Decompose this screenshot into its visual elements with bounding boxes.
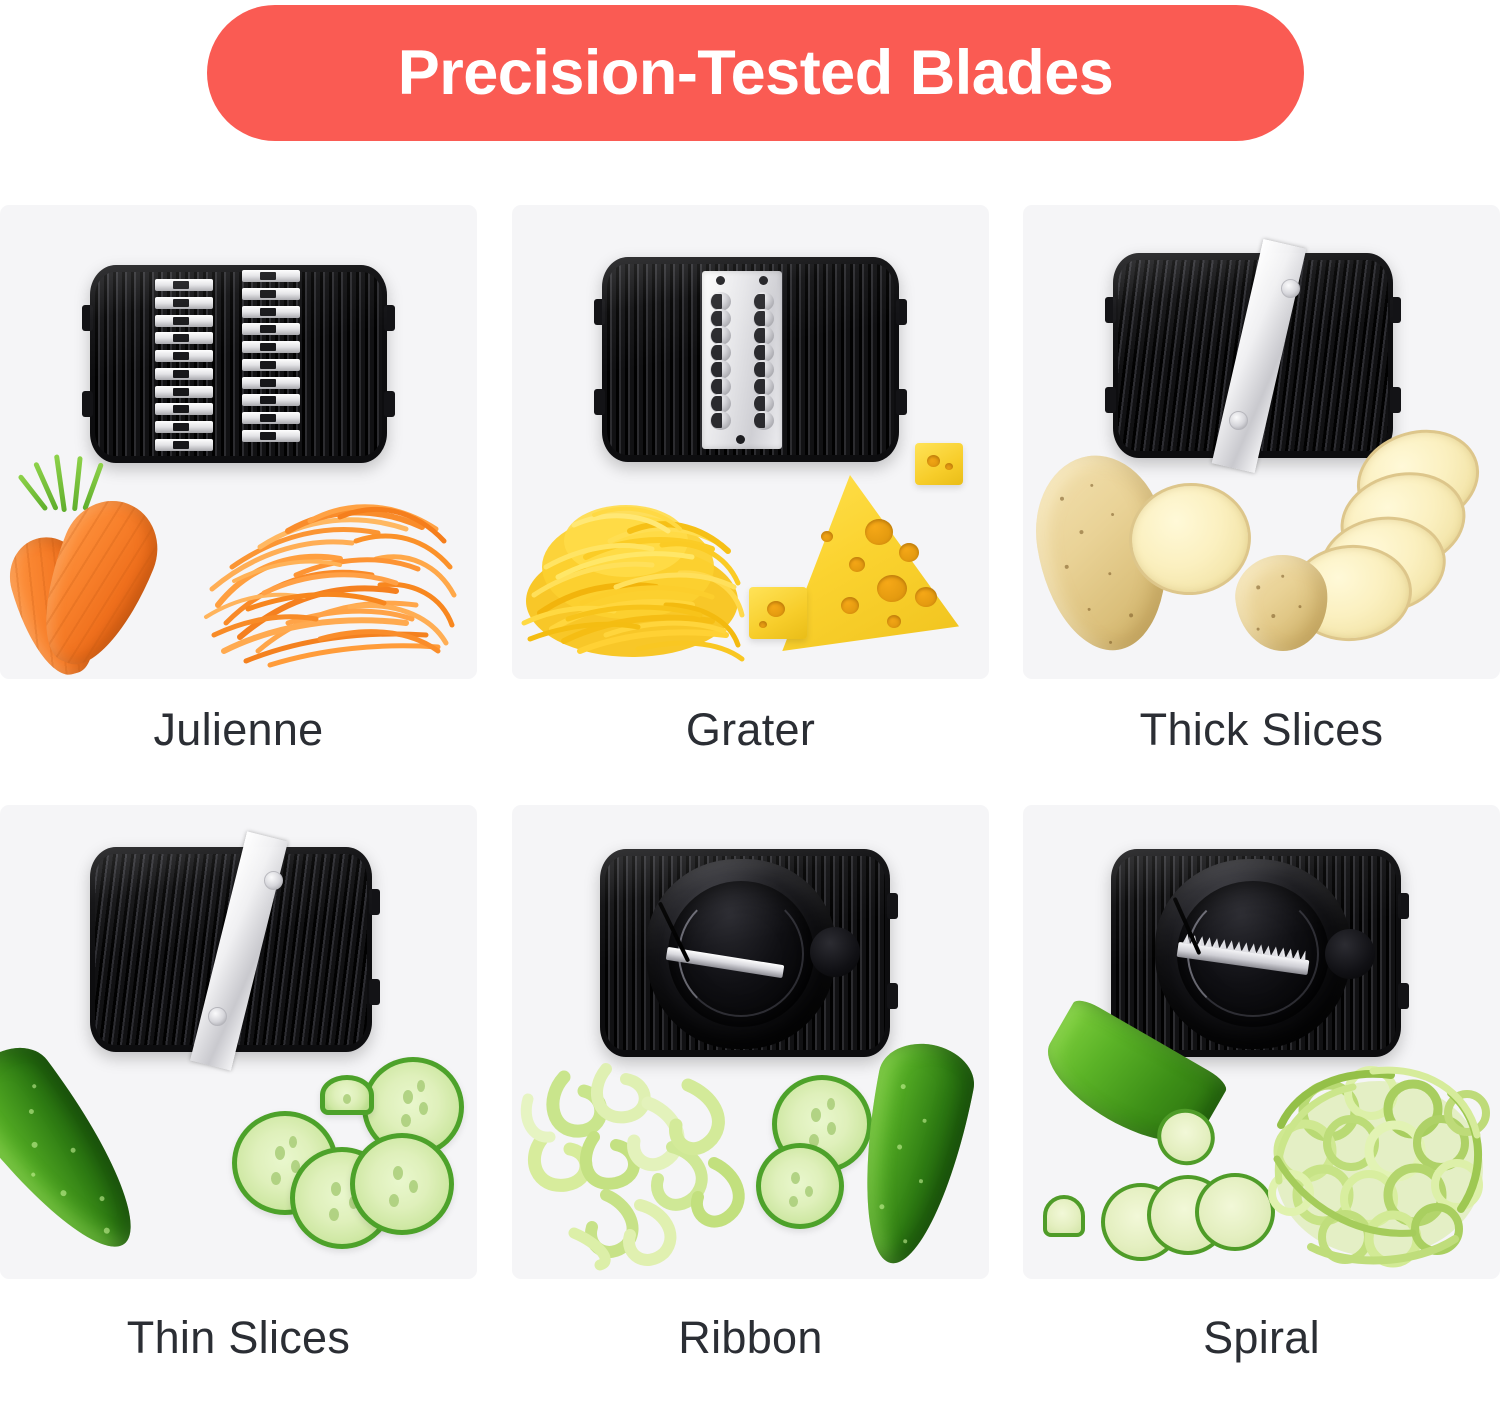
grater-tooth bbox=[710, 411, 731, 430]
julienne-tooth bbox=[242, 270, 300, 282]
julienne-tooth bbox=[155, 421, 213, 433]
cheese-hole bbox=[887, 615, 901, 628]
julienne-tooth bbox=[155, 315, 213, 327]
julienne-tooth bbox=[242, 394, 300, 406]
zucchini-group bbox=[1035, 1031, 1235, 1191]
card-label-thick-slices: Thick Slices bbox=[1023, 705, 1500, 755]
cucumber-whole bbox=[0, 1031, 163, 1274]
card-label-julienne: Julienne bbox=[0, 705, 477, 755]
blade-card-spiral[interactable] bbox=[1023, 805, 1500, 1279]
cucumber-ribbon-pile bbox=[522, 1055, 767, 1265]
carrot-green-top bbox=[72, 456, 83, 511]
julienne-tooth bbox=[155, 279, 213, 291]
julienne-tooth-column-left bbox=[155, 279, 217, 451]
blade-card-grater[interactable] bbox=[512, 205, 989, 679]
card-label-thin-slices: Thin Slices bbox=[0, 1313, 477, 1363]
grater-blade-body bbox=[602, 257, 899, 462]
julienne-tooth bbox=[155, 332, 213, 344]
blade-clip-nub bbox=[82, 391, 93, 417]
blade-cell-ribbon[interactable]: Ribbon bbox=[512, 805, 989, 1363]
blade-card-thin-slices[interactable] bbox=[0, 805, 477, 1279]
julienne-tooth bbox=[155, 350, 213, 362]
blade-clip-nub bbox=[1105, 387, 1116, 413]
blade-clip-nub bbox=[369, 979, 380, 1005]
zucchini-slices-group bbox=[1037, 1173, 1267, 1273]
blade-rib-texture bbox=[95, 272, 382, 456]
infographic-page: Precision-Tested Blades bbox=[0, 0, 1500, 1405]
carrot-group bbox=[10, 460, 230, 675]
swiss-cheese-group bbox=[757, 457, 977, 667]
card-label-spiral: Spiral bbox=[1023, 1313, 1500, 1363]
cheese-hole bbox=[849, 557, 865, 572]
zucchini-slice bbox=[1195, 1173, 1275, 1251]
julienne-tooth bbox=[242, 341, 300, 353]
blade-clip-nub bbox=[1398, 983, 1409, 1009]
cheese-hole bbox=[865, 519, 893, 545]
julienne-tooth bbox=[155, 368, 213, 380]
grater-screw bbox=[736, 435, 745, 444]
julienne-tooth bbox=[242, 359, 300, 371]
cucumber-slice bbox=[350, 1133, 454, 1235]
cheese-hole bbox=[899, 543, 919, 562]
cheese-hole bbox=[821, 531, 833, 542]
blade-card-ribbon[interactable] bbox=[512, 805, 989, 1279]
ribbon-blade-body bbox=[600, 849, 890, 1057]
blade-screw bbox=[208, 1007, 227, 1026]
cucumber-slice-fragment bbox=[320, 1075, 374, 1115]
blade-screw bbox=[264, 871, 283, 890]
page-title: Precision-Tested Blades bbox=[398, 42, 1114, 105]
julienne-tooth-column-right bbox=[242, 270, 304, 442]
card-label-ribbon: Ribbon bbox=[512, 1313, 989, 1363]
blade-clip-nub bbox=[1390, 387, 1401, 413]
carrot-julienne-pile bbox=[200, 455, 470, 670]
cheese-hole bbox=[841, 597, 859, 614]
blade-clip-nub bbox=[82, 305, 93, 331]
blade-clip-nub bbox=[896, 389, 907, 415]
potato-thick-slices-fan bbox=[1228, 427, 1498, 662]
julienne-tooth bbox=[155, 386, 213, 398]
blade-clip-nub bbox=[384, 391, 395, 417]
zucchini-slice-fragment bbox=[1043, 1195, 1085, 1237]
julienne-blade-body bbox=[90, 265, 387, 463]
julienne-tooth bbox=[155, 403, 213, 415]
blade-cell-spiral[interactable]: Spiral bbox=[1023, 805, 1500, 1363]
blade-clip-nub bbox=[1105, 297, 1116, 323]
shredded-cheddar-pile bbox=[520, 463, 750, 663]
zucchini-spiral-noodle-pile bbox=[1265, 1051, 1495, 1266]
julienne-tooth bbox=[242, 306, 300, 318]
grater-screw bbox=[716, 276, 725, 285]
julienne-tooth bbox=[242, 412, 300, 424]
cheese-cube bbox=[749, 587, 807, 639]
grater-tooth bbox=[753, 411, 774, 430]
blade-cell-thin-slices[interactable]: Thin Slices bbox=[0, 805, 477, 1363]
rotary-knob bbox=[1325, 929, 1375, 979]
blade-clip-nub bbox=[1398, 893, 1409, 919]
blade-clip-nub bbox=[594, 299, 605, 325]
rotary-insert bbox=[646, 859, 836, 1049]
julienne-tooth bbox=[155, 297, 213, 309]
cucumber-slices-group bbox=[754, 1075, 874, 1245]
blade-grid: Julienne bbox=[0, 205, 1500, 1405]
julienne-tooth bbox=[242, 323, 300, 335]
blade-grid-row-2: Thin Slices bbox=[0, 805, 1500, 1405]
grater-steel-plate bbox=[702, 271, 782, 449]
thin-slice-blade-body bbox=[90, 847, 372, 1052]
blade-card-julienne[interactable] bbox=[0, 205, 477, 679]
card-label-grater: Grater bbox=[512, 705, 989, 755]
julienne-tooth bbox=[155, 439, 213, 451]
cheese-hole bbox=[915, 587, 937, 607]
julienne-tooth bbox=[242, 288, 300, 300]
blade-clip-nub bbox=[896, 299, 907, 325]
blade-clip-nub bbox=[887, 983, 898, 1009]
blade-clip-nub bbox=[369, 889, 380, 915]
cheese-cube bbox=[915, 443, 963, 485]
cheese-hole bbox=[877, 575, 907, 602]
julienne-tooth bbox=[242, 377, 300, 389]
blade-cell-grater[interactable]: Grater bbox=[512, 205, 989, 755]
blade-clip-nub bbox=[887, 893, 898, 919]
rotary-insert bbox=[1155, 859, 1351, 1049]
cucumber-slice bbox=[756, 1143, 844, 1229]
rotary-knob bbox=[810, 927, 860, 977]
cucumber-slices-group bbox=[222, 1055, 472, 1255]
blade-clip-nub bbox=[594, 389, 605, 415]
spiral-blade-body bbox=[1111, 849, 1401, 1057]
blade-clip-nub bbox=[384, 305, 395, 331]
blade-cell-julienne[interactable]: Julienne bbox=[0, 205, 477, 755]
blade-clip-nub bbox=[1390, 297, 1401, 323]
blade-cell-thick-slices[interactable]: Thick Slices bbox=[1023, 205, 1500, 755]
grater-screw bbox=[759, 276, 768, 285]
blade-card-thick-slices[interactable] bbox=[1023, 205, 1500, 679]
blade-screw bbox=[1281, 279, 1300, 298]
title-banner: Precision-Tested Blades bbox=[207, 5, 1304, 141]
blade-grid-row-1: Julienne bbox=[0, 205, 1500, 805]
julienne-tooth bbox=[242, 430, 300, 442]
